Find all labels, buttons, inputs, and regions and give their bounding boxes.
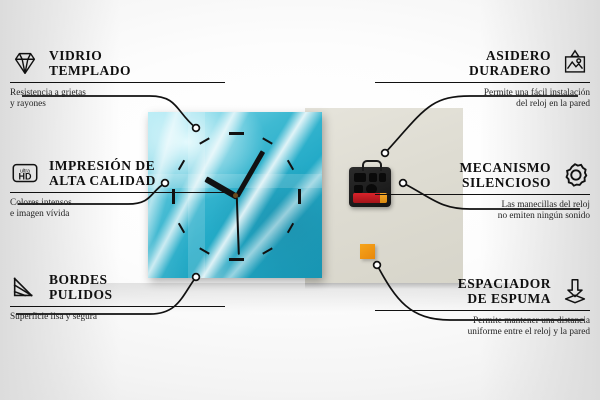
feature-divider [375,82,590,83]
feature-description-line: Permite mantener una distancia [375,316,590,327]
feature-asidero-duradero: ASIDERO DURADERO Permite una fácil insta… [375,48,590,111]
feature-description-line: Resistencia a grietas [10,88,225,99]
feature-header: ASIDERO DURADERO [375,48,590,78]
feature-description-line: Las manecillas del reloj [375,200,590,211]
diamond-icon [10,48,40,78]
foam-spacer [360,244,375,259]
feature-title: ASIDERO DURADERO [469,48,551,78]
feature-impresion-alta-calidad: ultra HD IMPRESIÓN DE ALTA CALIDAD Color… [10,158,225,221]
polished-edges-icon [10,272,40,302]
feature-espaciador-de-espuma: ESPACIADOR DE ESPUMA Permite mantener un… [375,276,590,339]
clock-pivot [233,193,238,198]
foam-spacer-arrow-icon [560,276,590,306]
feature-title: VIDRIO TEMPLADO [49,48,131,78]
framed-picture-hook-icon [560,48,590,78]
ultra-hd-icon: ultra HD [10,158,40,188]
feature-divider [10,192,225,193]
feature-mecanismo-silencioso: MECANISMO SILENCIOSO Las manecillas del … [375,160,590,223]
feature-header: BORDES PULIDOS [10,272,225,302]
feature-divider [375,310,590,311]
feature-header: ESPACIADOR DE ESPUMA [375,276,590,306]
feature-description-line: uniforme entre el reloj y la pared [375,327,590,338]
feature-description-line: no emiten ningún sonido [375,211,590,222]
feature-header: VIDRIO TEMPLADO [10,48,225,78]
hour-marker [229,132,244,135]
feature-description-line: e imagen vívida [10,209,225,220]
feature-header: ultra HD IMPRESIÓN DE ALTA CALIDAD [10,158,225,188]
feature-bordes-pulidos: BORDES PULIDOS Superficie lisa y segura [10,272,225,323]
feature-header: MECANISMO SILENCIOSO [375,160,590,190]
hour-marker [229,258,244,261]
feature-vidrio-templado: VIDRIO TEMPLADO Resistencia a grietas y … [10,48,225,111]
feature-divider [10,306,225,307]
feature-title: ESPACIADOR DE ESPUMA [458,276,551,306]
feature-title: MECANISMO SILENCIOSO [460,160,552,190]
feature-description-line: y rayones [10,99,225,110]
movement-slot [354,173,366,182]
gear-icon [560,160,590,190]
feature-divider [375,194,590,195]
feature-description-line: Superficie lisa y segura [10,312,225,323]
feature-title: BORDES PULIDOS [49,272,113,302]
feature-description-line: del reloj en la pared [375,99,590,110]
feature-divider [10,82,225,83]
svg-text:HD: HD [19,172,32,182]
feature-description-line: Permite una fácil instalación [375,88,590,99]
feature-description-line: Colores intensos [10,198,225,209]
movement-slot [354,185,363,193]
feature-title: IMPRESIÓN DE ALTA CALIDAD [49,158,156,188]
infographic-canvas: VIDRIO TEMPLADO Resistencia a grietas y … [0,0,600,400]
hour-marker [298,189,301,204]
